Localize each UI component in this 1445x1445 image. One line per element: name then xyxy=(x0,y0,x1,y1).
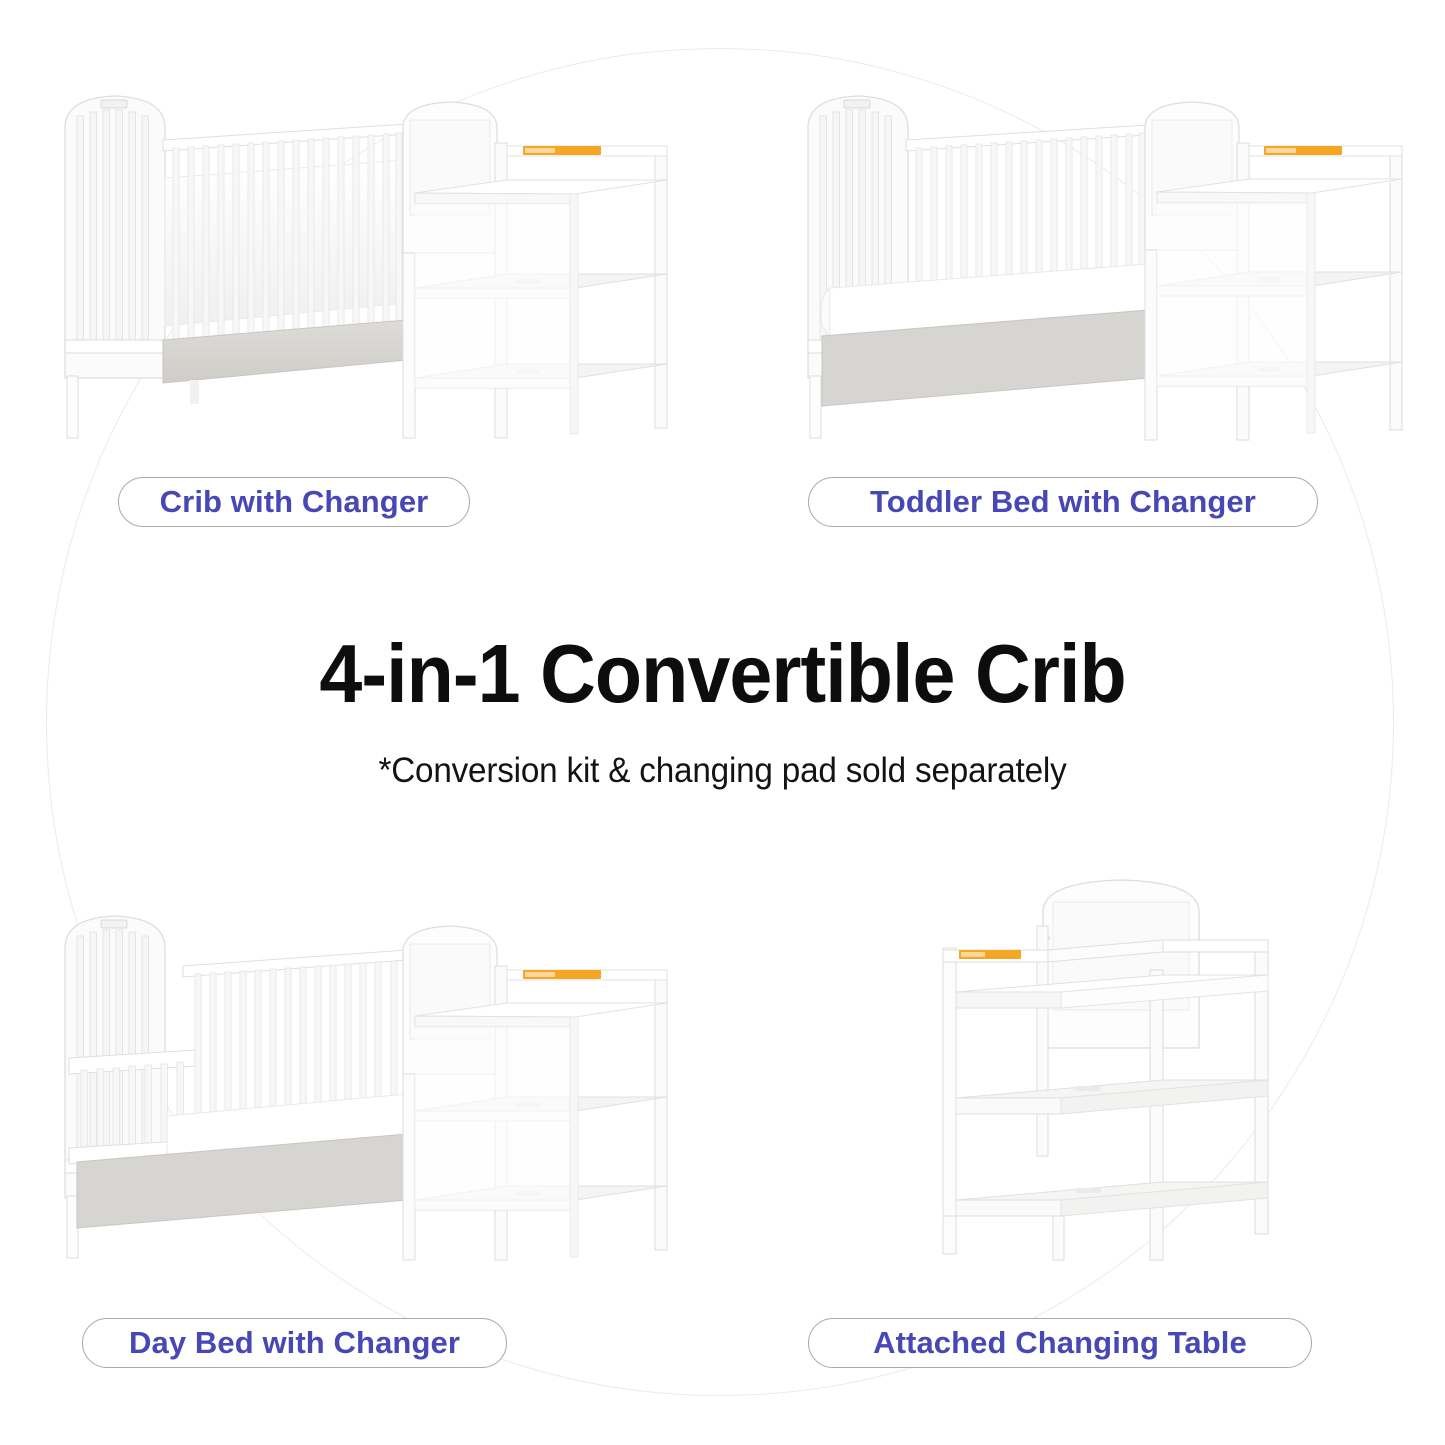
label-text: Attached Changing Table xyxy=(873,1325,1247,1361)
toddler-bed-with-changer-illustration xyxy=(800,88,1410,458)
label-attached-changing-table[interactable]: Attached Changing Table xyxy=(808,1318,1312,1368)
product-image-day-bed-with-changer xyxy=(55,908,675,1278)
label-toddler-bed-with-changer[interactable]: Toddler Bed with Changer xyxy=(808,477,1318,527)
changing-table-middle-shelf xyxy=(956,1080,1268,1114)
changer-unit xyxy=(1145,102,1402,440)
changing-table-backboard xyxy=(1043,880,1199,1048)
crib-base-panel xyxy=(163,320,407,404)
attached-changing-table-illustration xyxy=(925,870,1295,1280)
crib-headboard xyxy=(65,96,165,438)
product-image-toddler-bed-with-changer xyxy=(800,88,1410,458)
label-text: Day Bed with Changer xyxy=(129,1325,460,1361)
label-day-bed-with-changer[interactable]: Day Bed with Changer xyxy=(82,1318,507,1368)
label-crib-with-changer[interactable]: Crib with Changer xyxy=(118,477,470,527)
changing-table-bottom-shelf xyxy=(956,1182,1268,1216)
page-title: 4-in-1 Convertible Crib xyxy=(51,632,1395,715)
label-text: Toddler Bed with Changer xyxy=(870,484,1256,520)
label-text: Crib with Changer xyxy=(160,484,429,520)
changer-unit xyxy=(403,102,667,438)
headline-block: 4-in-1 Convertible Crib *Conversion kit … xyxy=(0,632,1445,788)
changer-unit xyxy=(403,926,667,1260)
product-image-attached-changing-table xyxy=(925,870,1295,1280)
crib-with-changer-illustration xyxy=(55,88,675,458)
day-bed-with-changer-illustration xyxy=(55,908,675,1278)
product-image-crib-with-changer xyxy=(55,88,675,458)
page-subtitle: *Conversion kit & changing pad sold sepa… xyxy=(36,753,1409,788)
